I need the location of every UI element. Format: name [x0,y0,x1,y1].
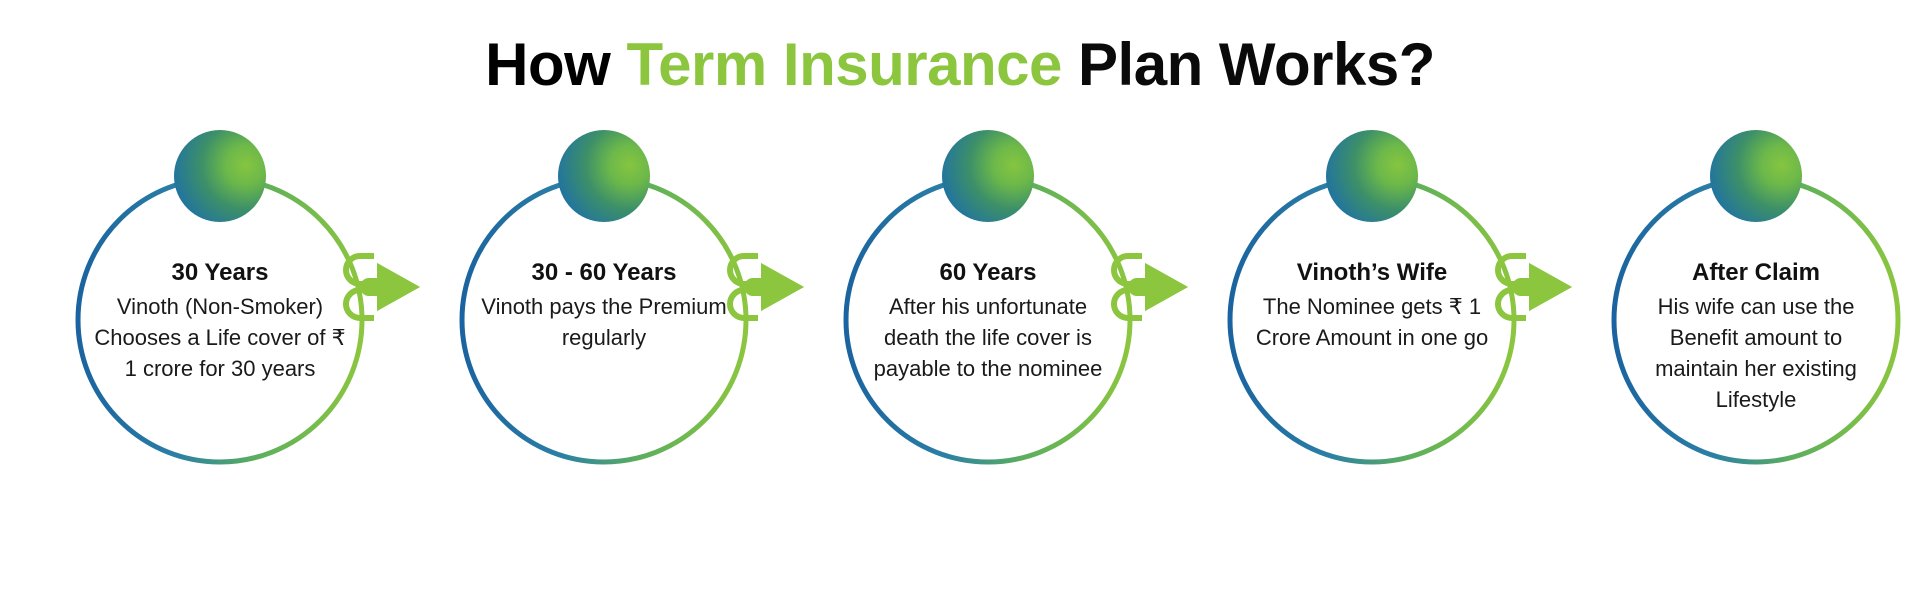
step-text-5: After Claim His wife can use the Benefit… [1630,258,1882,415]
step-heading-1: 30 Years [94,258,346,288]
step-description-3: After his unfortunate death the life cov… [862,291,1114,384]
step-text-2: 30 - 60 Years Vinoth pays the Premium re… [478,258,730,353]
infographic-canvas: How Term Insurance Plan Works? [0,0,1920,600]
title-part-plan-works: Plan Works? [1062,31,1435,98]
step-description-4: The Nominee gets ₹ 1 Crore Amount in one… [1246,291,1498,353]
step-heading-5: After Claim [1630,258,1882,288]
step-heading-4: Vinoth’s Wife [1246,258,1498,288]
step-description-1: Vinoth (Non-Smoker) Chooses a Life cover… [94,291,346,384]
step-text-4: Vinoth’s Wife The Nominee gets ₹ 1 Crore… [1246,258,1498,353]
connector-arrow-4 [1492,250,1582,324]
step-marker-sphere-5 [1710,130,1802,222]
step-marker-sphere-2 [558,130,650,222]
connector-arrow-2 [724,250,814,324]
step-description-2: Vinoth pays the Premium regularly [478,291,730,353]
connector-arrow-1 [340,250,430,324]
step-card-1[interactable]: 30 Years Vinoth (Non-Smoker) Chooses a L… [50,130,390,470]
step-heading-3: 60 Years [862,258,1114,288]
step-marker-sphere-4 [1326,130,1418,222]
step-text-1: 30 Years Vinoth (Non-Smoker) Chooses a L… [94,258,346,384]
step-card-2[interactable]: 30 - 60 Years Vinoth pays the Premium re… [434,130,774,470]
step-heading-2: 30 - 60 Years [478,258,730,288]
step-marker-sphere-1 [174,130,266,222]
step-marker-sphere-3 [942,130,1034,222]
title-part-how: How [485,31,626,98]
connector-arrow-3 [1108,250,1198,324]
step-card-5[interactable]: After Claim His wife can use the Benefit… [1586,130,1920,470]
step-card-3[interactable]: 60 Years After his unfortunate death the… [818,130,1158,470]
page-title: How Term Insurance Plan Works? [0,30,1920,100]
step-description-5: His wife can use the Benefit amount to m… [1630,291,1882,415]
steps-row: 30 Years Vinoth (Non-Smoker) Chooses a L… [0,130,1920,470]
title-part-term-insurance: Term Insurance [626,31,1061,98]
step-card-4[interactable]: Vinoth’s Wife The Nominee gets ₹ 1 Crore… [1202,130,1542,470]
step-text-3: 60 Years After his unfortunate death the… [862,258,1114,384]
